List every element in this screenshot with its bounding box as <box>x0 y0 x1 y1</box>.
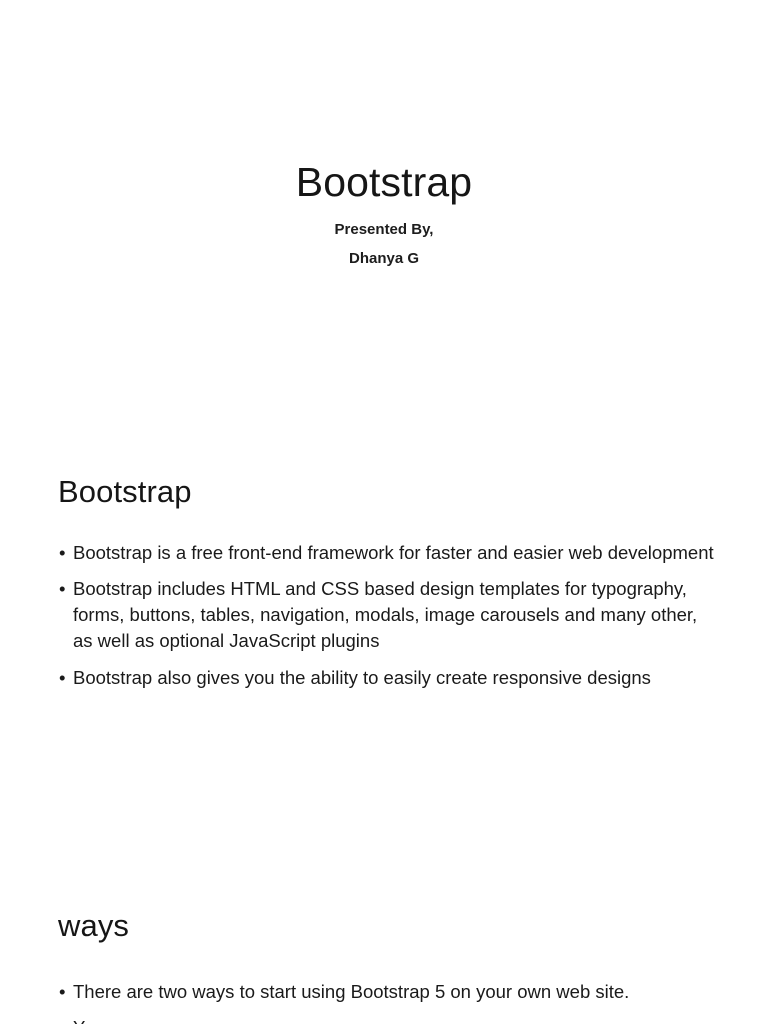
author-name: Dhanya G <box>0 244 768 273</box>
document-page: Bootstrap Presented By, Dhanya G Bootstr… <box>0 0 768 1024</box>
bullet-point-icon: • <box>59 979 65 1005</box>
list-item: • There are two ways to start using Boot… <box>58 979 714 1005</box>
bullet-point-icon: • <box>59 576 65 602</box>
list-item-text: Bootstrap also gives you the ability to … <box>73 667 651 688</box>
title-slide: Bootstrap Presented By, Dhanya G <box>0 160 768 273</box>
bullet-point-icon: • <box>59 1015 65 1024</box>
slide-heading: Bootstrap <box>58 474 714 510</box>
bullet-list: • There are two ways to start using Boot… <box>58 944 714 1024</box>
deck-title: Bootstrap <box>0 160 768 206</box>
list-item-text: You can: <box>73 1017 144 1024</box>
bullet-point-icon: • <box>59 665 65 691</box>
presented-by-label: Presented By, <box>0 215 768 244</box>
list-item: • Bootstrap also gives you the ability t… <box>58 665 714 691</box>
bullet-point-icon: • <box>59 540 65 566</box>
list-item: • Bootstrap is a free front-end framewor… <box>58 540 714 566</box>
slide-heading: ways <box>58 908 714 944</box>
bullet-list: • Bootstrap is a free front-end framewor… <box>58 510 714 691</box>
deck-subtitle: Presented By, Dhanya G <box>0 206 768 274</box>
list-item-text: Bootstrap is a free front-end framework … <box>73 542 714 563</box>
slide-bootstrap: Bootstrap • Bootstrap is a free front-en… <box>58 474 714 691</box>
list-item-text: There are two ways to start using Bootst… <box>73 981 629 1002</box>
slide-ways: ways • There are two ways to start using… <box>58 908 714 1024</box>
list-item: • Bootstrap includes HTML and CSS based … <box>58 576 714 655</box>
list-item-text: Bootstrap includes HTML and CSS based de… <box>73 578 697 652</box>
list-item: • You can: <box>58 1015 714 1024</box>
